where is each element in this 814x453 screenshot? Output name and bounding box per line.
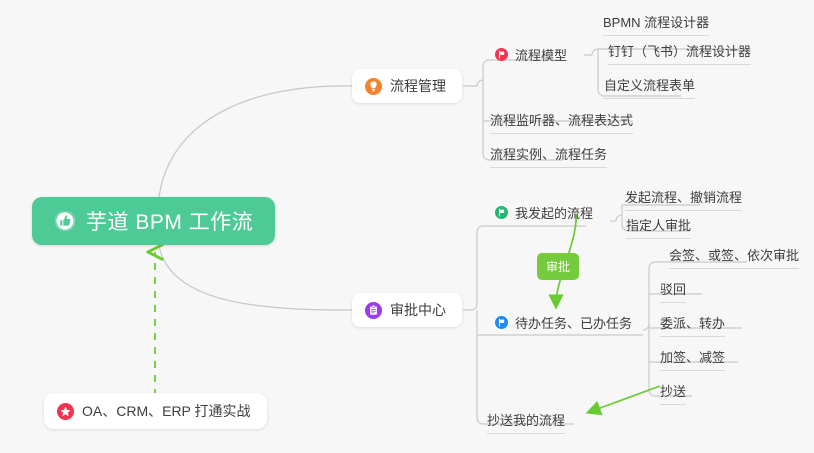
leaf-cc-to-me-process[interactable]: 抄送我的流程 [487,410,565,434]
flag-icon [495,206,508,219]
root-label: 芋道 BPM 工作流 [86,206,253,236]
leaf-process-instance[interactable]: 流程实例、流程任务 [490,144,607,168]
leaf-custom-form[interactable]: 自定义流程表单 [604,75,695,99]
node-process-management-label: 流程管理 [390,76,446,96]
leaf-countersign-modes[interactable]: 会签、或签、依次审批 [669,245,799,269]
flag-icon [495,48,508,61]
node-approval-center-label: 审批中心 [390,300,446,320]
leaf-label: 钉钉（飞书）流程设计器 [608,44,751,59]
flag-icon [495,316,508,329]
leaf-label: 驳回 [660,282,686,297]
node-todo-done-tasks[interactable]: 待办任务、已办任务 [495,313,632,332]
leaf-assignee-approval[interactable]: 指定人审批 [626,215,691,239]
edge-root-to-process-management [159,86,352,197]
node-approval-center[interactable]: 审批中心 [352,293,462,327]
leaf-label: 发起流程、撤销流程 [625,190,742,205]
annotation-label: 审批 [546,260,570,274]
leaf-label: 抄送我的流程 [487,413,565,428]
clipboard-icon [365,302,382,319]
leaf-add-remove-sign[interactable]: 加签、减签 [660,347,725,371]
node-process-management[interactable]: 流程管理 [352,69,462,103]
leaf-initiate-cancel[interactable]: 发起流程、撤销流程 [625,187,742,211]
leaf-label: 流程监听器、流程表达式 [490,113,633,128]
annotation-approval-chip[interactable]: 审批 [537,253,579,280]
leaf-process-listener[interactable]: 流程监听器、流程表达式 [490,110,633,134]
root-node[interactable]: 芋道 BPM 工作流 [32,197,275,245]
node-my-initiated-process[interactable]: 我发起的流程 [495,203,593,222]
leaf-label: 抄送 [660,384,686,399]
leaf-reject[interactable]: 驳回 [660,279,686,303]
node-process-model[interactable]: 流程模型 [495,45,567,64]
leaf-bpmn-designer[interactable]: BPMN 流程设计器 [603,12,709,36]
node-process-model-label: 流程模型 [515,45,567,64]
leaf-delegate-transfer[interactable]: 委派、转办 [660,313,725,337]
lightbulb-icon [365,78,382,95]
leaf-label: BPMN 流程设计器 [603,15,709,30]
leaf-label: 自定义流程表单 [604,78,695,93]
leaf-label: 委派、转办 [660,316,725,331]
mindmap-canvas: 芋道 BPM 工作流 流程管理 流程模型 BPMN 流程设计器 钉钉（飞书）流程 [0,0,814,453]
edge-root-to-approval-center [159,246,352,310]
thumbs-up-icon [54,210,76,232]
cross-link-cc-to-my-cc [592,386,660,411]
leaf-label: 流程实例、流程任务 [490,147,607,162]
leaf-cc[interactable]: 抄送 [660,381,686,405]
node-oa-crm-erp[interactable]: OA、CRM、ERP 打通实战 [44,393,267,429]
leaf-label: 指定人审批 [626,218,691,233]
leaf-label: 加签、减签 [660,350,725,365]
leaf-dingtalk-designer[interactable]: 钉钉（飞书）流程设计器 [608,41,751,65]
node-todo-done-tasks-label: 待办任务、已办任务 [515,313,632,332]
star-icon [57,403,74,420]
node-my-initiated-process-label: 我发起的流程 [515,203,593,222]
node-oa-crm-erp-label: OA、CRM、ERP 打通实战 [82,401,251,421]
leaf-label: 会签、或签、依次审批 [669,248,799,263]
